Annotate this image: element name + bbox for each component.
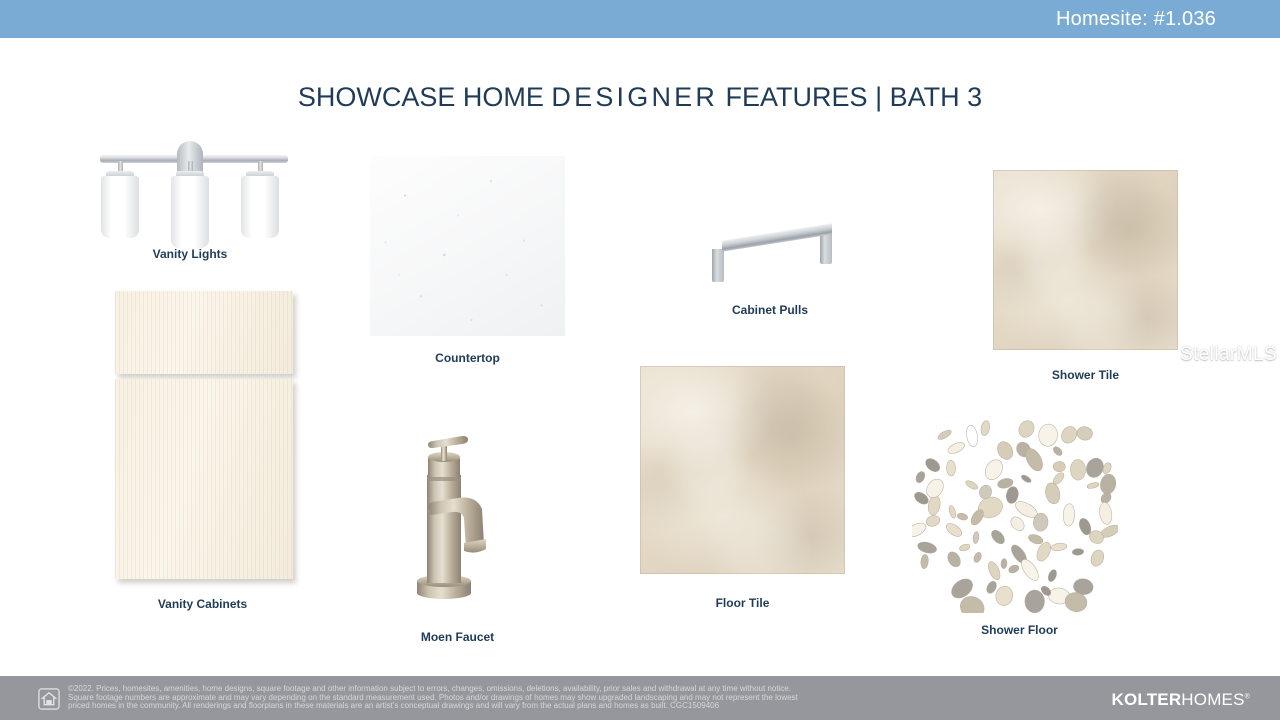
brushed-nickel-single-handle-faucet-image [400, 425, 515, 615]
feature-shower-floor[interactable]: Shower Floor [912, 418, 1127, 648]
light-shade-1 [101, 176, 139, 238]
feature-label-cabinet-pulls: Cabinet Pulls [700, 303, 840, 317]
equal-housing-opportunity-icon [38, 688, 60, 710]
feature-label-shower-tile: Shower Tile [993, 368, 1178, 382]
pull-bar [722, 223, 832, 251]
feature-shower-tile[interactable]: Shower Tile [993, 170, 1198, 392]
beige-stone-look-floor-tile-swatch [640, 366, 845, 574]
homesite-label: Homesite: #1.036 [1056, 8, 1216, 31]
feature-floor-tile[interactable]: Floor Tile [640, 366, 845, 616]
pebble-mosaic-svg [912, 418, 1118, 613]
logo-kolter: KOLTER [1111, 690, 1181, 709]
footer-disclaimer: ©2022. Prices, homesites, amenities, hom… [68, 685, 1078, 711]
vanity-light-fixture-image [90, 132, 290, 232]
feature-label-floor-tile: Floor Tile [640, 596, 845, 610]
footer-disclaimer-line-3: priced homes in the community. All rende… [68, 702, 1078, 711]
feature-label-shower-floor: Shower Floor [912, 623, 1127, 637]
feature-cabinet-pulls[interactable]: Cabinet Pulls [700, 218, 840, 323]
white-speckled-quartz-swatch [370, 156, 565, 336]
beige-stone-look-shower-tile-swatch [993, 170, 1178, 350]
page-title-designer: DESIGNER [551, 82, 718, 112]
light-shade-2 [171, 176, 209, 248]
logo-homes: HOMES [1181, 690, 1244, 709]
logo-registered-mark: ® [1245, 693, 1250, 700]
page-title-part1: SHOWCASE HOME [298, 82, 552, 112]
pull-leg-left [712, 249, 724, 282]
page-title-part2: FEATURES | BATH 3 [718, 82, 982, 112]
feature-moen-faucet[interactable]: Moen Faucet [400, 425, 515, 650]
feature-countertop[interactable]: Countertop [370, 156, 565, 366]
feature-label-vanity-cabinets: Vanity Cabinets [110, 597, 295, 611]
light-shade-3 [241, 176, 279, 238]
pebble-mosaic-swatch [912, 418, 1118, 613]
kolter-homes-logo: KOLTERHOMES® [1111, 690, 1250, 710]
cream-wood-cabinet-door-image [115, 379, 293, 579]
brushed-nickel-square-bar-pull-image [700, 218, 840, 288]
feature-vanity-cabinets[interactable]: Vanity Cabinets [110, 291, 295, 616]
feature-label-vanity-lights: Vanity Lights [90, 247, 290, 261]
pull-leg-right [820, 231, 832, 264]
cream-wood-cabinet-drawer-image [115, 291, 293, 374]
page-title: SHOWCASE HOME DESIGNER FEATURES | BATH 3 [0, 82, 1280, 113]
feature-vanity-lights[interactable]: Vanity Lights [90, 132, 290, 268]
feature-label-moen-faucet: Moen Faucet [400, 630, 515, 644]
feature-label-countertop: Countertop [370, 351, 565, 365]
